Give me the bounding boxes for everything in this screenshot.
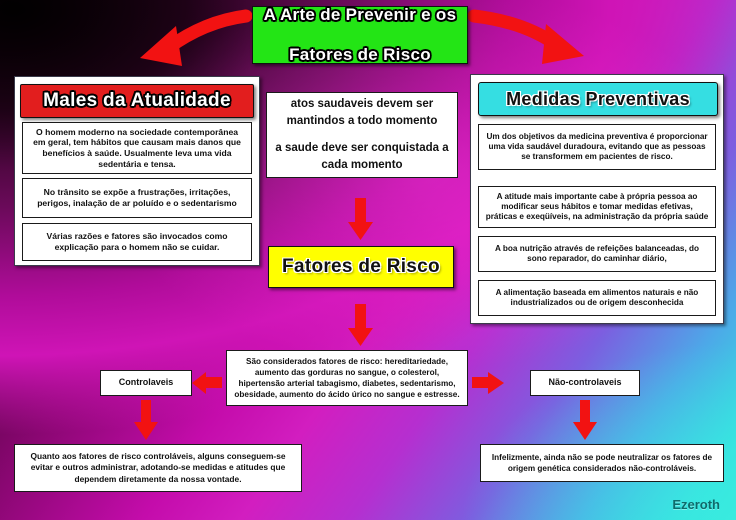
controllable-description-box: Quanto aos fatores de risco controláveis…	[14, 444, 302, 492]
controllable-description-text: Quanto aos fatores de risco controláveis…	[21, 451, 295, 485]
left-header-text: Males da Atualidade	[43, 90, 231, 112]
right-item-2: A atitude mais importante cabe à própria…	[478, 186, 716, 228]
uncontrollable-label-box: Não-controlaveis	[530, 370, 640, 396]
right-item-3: A boa nutrição através de refeições bala…	[478, 236, 716, 272]
left-item-1: O homem moderno na sociedade contemporân…	[22, 122, 252, 174]
risk-factors-list-text: São considerados fatores de risco: hered…	[233, 356, 461, 400]
main-title-line1: A Arte de Prevenir e os	[264, 5, 457, 25]
main-title-banner: A Arte de Prevenir e os Fatores de Risco	[252, 6, 468, 64]
infographic-canvas: A Arte de Prevenir e os Fatores de Risco…	[0, 0, 736, 520]
right-item-1: Um dos objetivos da medicina preventiva …	[478, 124, 716, 170]
right-item-4: A alimentação baseada em alimentos natur…	[478, 280, 716, 316]
left-item-2: No trânsito se expõe a frustrações, irri…	[22, 178, 252, 218]
left-item-1-text: O homem moderno na sociedade contemporân…	[29, 127, 245, 170]
right-item-2-text: A atitude mais importante cabe à própria…	[485, 192, 709, 223]
right-header-text: Medidas Preventivas	[506, 89, 690, 110]
left-header-banner: Males da Atualidade	[20, 84, 254, 118]
left-item-2-text: No trânsito se expõe a frustrações, irri…	[29, 187, 245, 208]
controllable-label-box: Controlaveis	[100, 370, 192, 396]
uncontrollable-description-box: Infelizmente, ainda não se pode neutrali…	[480, 444, 724, 482]
risk-factors-list-box: São considerados fatores de risco: hered…	[226, 350, 468, 406]
center-quote-line1: atos saudaveis devem ser mantindos a tod…	[273, 96, 451, 131]
main-title-line2: Fatores de Risco	[264, 45, 457, 65]
uncontrollable-label-text: Não-controlaveis	[548, 377, 621, 388]
right-item-1-text: Um dos objetivos da medicina preventiva …	[485, 132, 709, 163]
uncontrollable-description-text: Infelizmente, ainda não se pode neutrali…	[487, 452, 717, 474]
right-item-4-text: A alimentação baseada em alimentos natur…	[485, 288, 709, 309]
right-item-3-text: A boa nutrição através de refeições bala…	[485, 244, 709, 265]
left-item-3: Várias razões e fatores são invocados co…	[22, 223, 252, 261]
center-quote-line2: a saude deve ser conquistada a cada mome…	[273, 140, 451, 175]
author-signature: Ezeroth	[672, 497, 720, 512]
left-item-3-text: Várias razões e fatores são invocados co…	[29, 231, 245, 252]
risk-factors-banner: Fatores de Risco	[268, 246, 454, 288]
right-header-banner: Medidas Preventivas	[478, 82, 718, 116]
controllable-label-text: Controlaveis	[119, 377, 174, 388]
main-title-text: A Arte de Prevenir e os Fatores de Risco	[264, 5, 457, 65]
risk-factors-title: Fatores de Risco	[282, 256, 440, 278]
center-quote-box: atos saudaveis devem ser mantindos a tod…	[266, 92, 458, 178]
